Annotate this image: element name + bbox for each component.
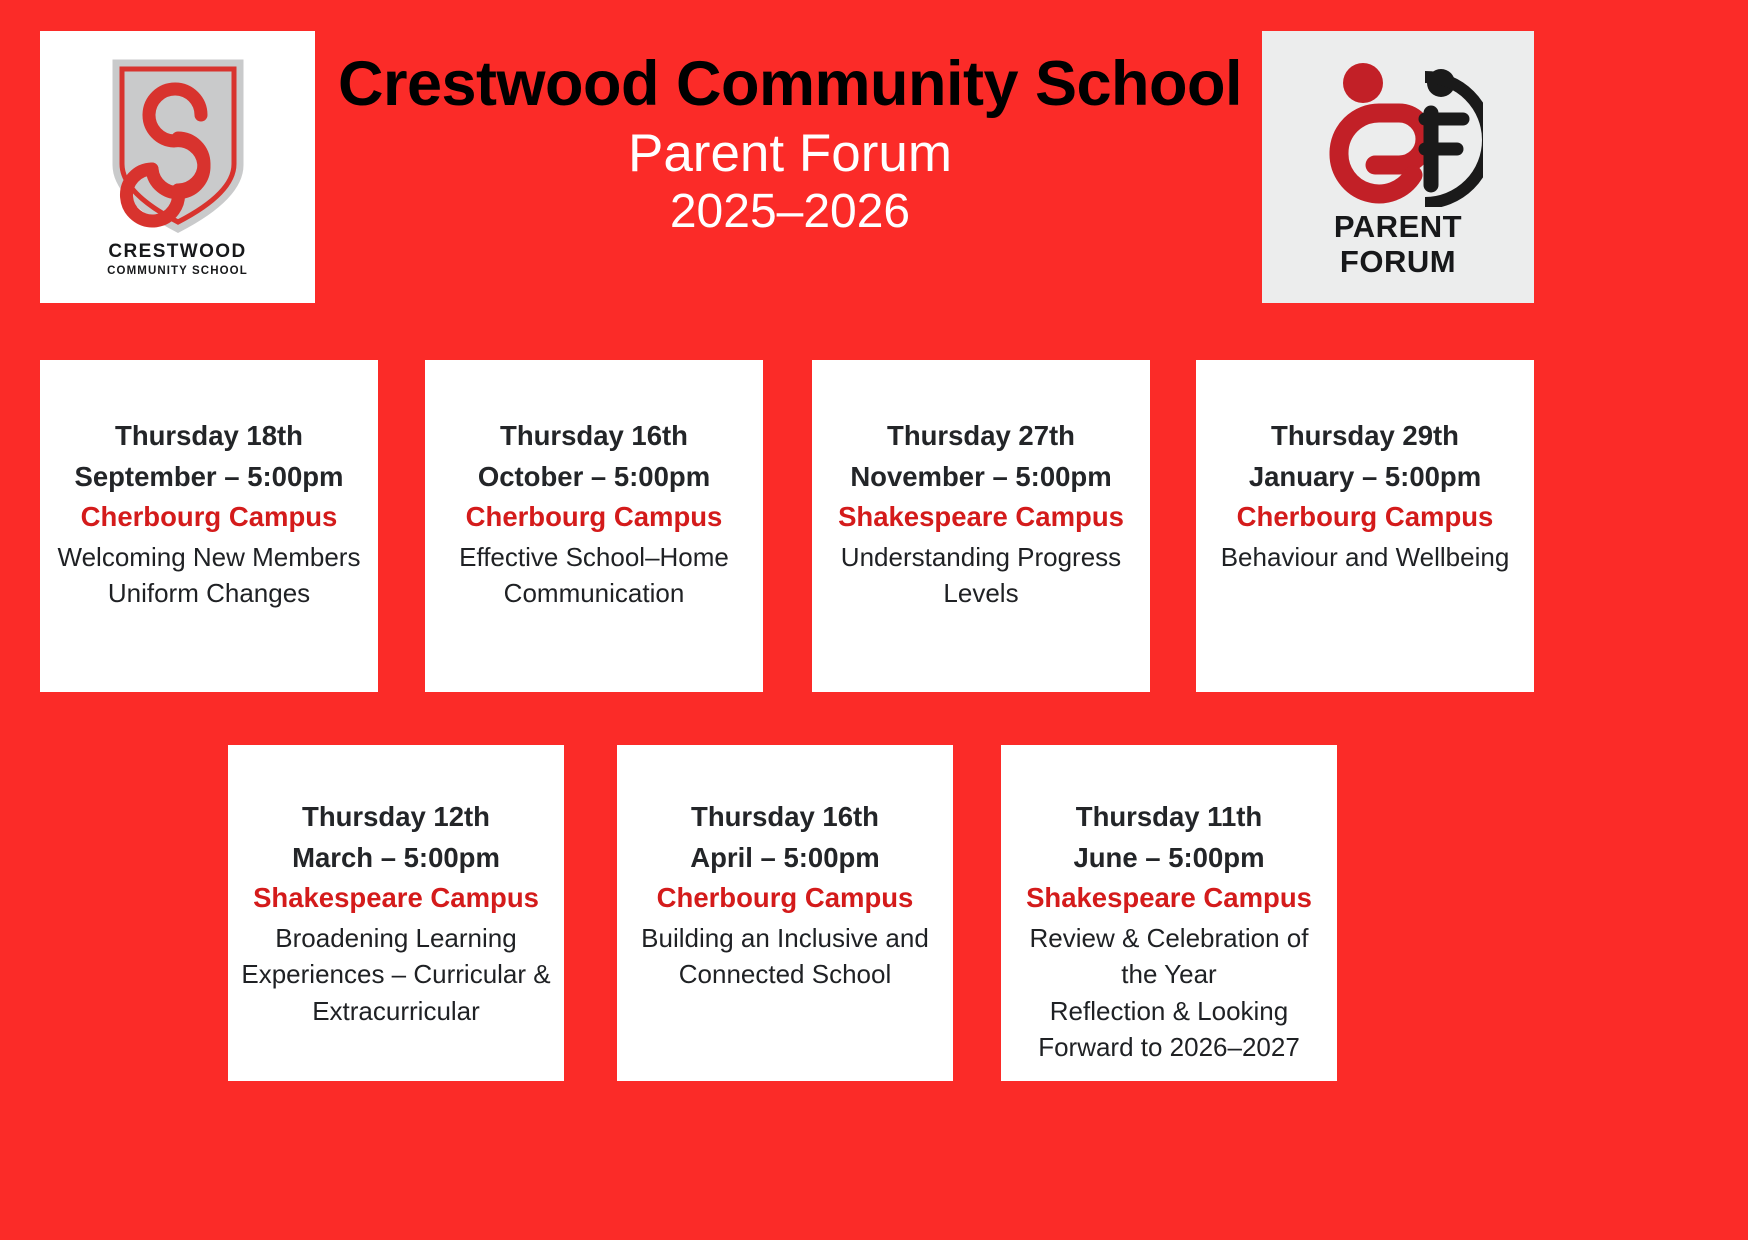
- school-logo-name: CRESTWOOD: [108, 241, 246, 263]
- meeting-date-line2: September – 5:00pm: [52, 457, 366, 498]
- page-title: Crestwood Community School: [330, 50, 1250, 118]
- meeting-date-line1: Thursday 11th: [1013, 797, 1325, 838]
- meeting-description-line2: Levels: [824, 576, 1138, 610]
- meeting-description-line1: Understanding Progress: [824, 540, 1138, 574]
- meeting-date-line2: June – 5:00pm: [1013, 838, 1325, 879]
- meeting-description-line2: Communication: [437, 576, 751, 610]
- parent-forum-logo-line1: PARENT: [1334, 211, 1462, 242]
- meeting-description-line1: Broadening Learning: [240, 921, 552, 955]
- meeting-date-line1: Thursday 12th: [240, 797, 552, 838]
- meeting-description-line1: Behaviour and Wellbeing: [1208, 540, 1522, 574]
- meeting-date-line1: Thursday 27th: [824, 416, 1138, 457]
- meeting-date-line1: Thursday 16th: [629, 797, 941, 838]
- meeting-campus: Shakespeare Campus: [240, 878, 552, 919]
- parent-forum-poster: CRESTWOOD COMMUNITY SCHOOL Crestwood Com…: [0, 0, 1748, 1240]
- meeting-date-line2: November – 5:00pm: [824, 457, 1138, 498]
- school-logo: CRESTWOOD COMMUNITY SCHOOL: [40, 31, 315, 303]
- meeting-campus: Cherbourg Campus: [437, 497, 751, 538]
- meeting-campus: Cherbourg Campus: [52, 497, 366, 538]
- parent-forum-logo-line2: FORUM: [1340, 246, 1456, 277]
- meeting-card[interactable]: Thursday 27th November – 5:00pm Shakespe…: [812, 360, 1150, 692]
- meeting-date-line2: April – 5:00pm: [629, 838, 941, 879]
- meeting-date-line2: October – 5:00pm: [437, 457, 751, 498]
- meeting-description-line2: Uniform Changes: [52, 576, 366, 610]
- meeting-date-line2: January – 5:00pm: [1208, 457, 1522, 498]
- poster-header: CRESTWOOD COMMUNITY SCHOOL Crestwood Com…: [0, 0, 1748, 330]
- meeting-description-line3: Extracurricular: [240, 994, 552, 1028]
- meeting-date-line1: Thursday 18th: [52, 416, 366, 457]
- meeting-card[interactable]: Thursday 12th March – 5:00pm Shakespeare…: [228, 745, 564, 1081]
- meeting-description-line1: Review & Celebration of: [1013, 921, 1325, 955]
- parent-forum-logo: PARENT FORUM: [1262, 31, 1534, 303]
- meeting-card[interactable]: Thursday 16th April – 5:00pm Cherbourg C…: [617, 745, 953, 1081]
- meeting-description-line1: Welcoming New Members: [52, 540, 366, 574]
- meeting-description-line4: Forward to 2026–2027: [1013, 1030, 1325, 1064]
- meeting-campus: Cherbourg Campus: [1208, 497, 1522, 538]
- meeting-description-line2: Connected School: [629, 957, 941, 991]
- meeting-description-line2: the Year: [1013, 957, 1325, 991]
- school-logo-subtitle: COMMUNITY SCHOOL: [107, 265, 248, 277]
- meeting-date-line1: Thursday 29th: [1208, 416, 1522, 457]
- meeting-date-line2: March – 5:00pm: [240, 838, 552, 879]
- academic-year: 2025–2026: [330, 185, 1250, 239]
- meeting-date-line1: Thursday 16th: [437, 416, 751, 457]
- crest-shield-icon: [108, 57, 248, 235]
- meeting-campus: Cherbourg Campus: [629, 878, 941, 919]
- meeting-card[interactable]: Thursday 18th September – 5:00pm Cherbou…: [40, 360, 378, 692]
- meeting-card[interactable]: Thursday 29th January – 5:00pm Cherbourg…: [1196, 360, 1534, 692]
- page-subtitle: Parent Forum: [330, 124, 1250, 183]
- meeting-card[interactable]: Thursday 16th October – 5:00pm Cherbourg…: [425, 360, 763, 692]
- meeting-description-line3: Reflection & Looking: [1013, 994, 1325, 1028]
- meeting-campus: Shakespeare Campus: [1013, 878, 1325, 919]
- title-block: Crestwood Community School Parent Forum …: [330, 50, 1250, 239]
- meeting-description-line2: Experiences – Curricular &: [240, 957, 552, 991]
- meeting-card[interactable]: Thursday 11th June – 5:00pm Shakespeare …: [1001, 745, 1337, 1081]
- meeting-description-line1: Effective School–Home: [437, 540, 751, 574]
- meeting-description-line1: Building an Inclusive and: [629, 921, 941, 955]
- parent-forum-mark-icon: [1313, 57, 1483, 207]
- meeting-campus: Shakespeare Campus: [824, 497, 1138, 538]
